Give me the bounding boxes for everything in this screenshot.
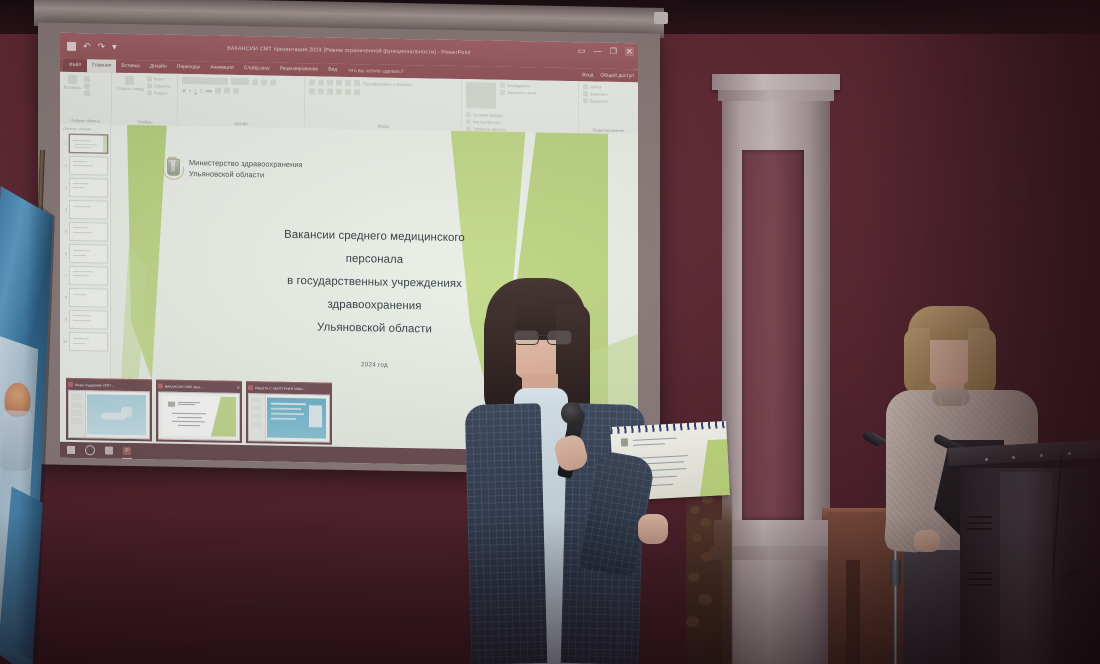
preview-thumbnail[interactable] [158,391,240,441]
booklet-emblem [621,438,628,446]
start-button-icon[interactable] [67,446,75,454]
eyeglasses-icon [514,330,570,343]
new-slide-icon [125,76,134,85]
section-button[interactable]: Раздел [147,90,172,95]
underline-icon[interactable]: Ч [194,88,197,93]
column-inset-panel [742,150,804,520]
cut-icon[interactable] [84,76,90,82]
minimize-icon[interactable]: — [593,46,602,55]
tab-insert[interactable]: Вставка [116,60,145,74]
tab-design[interactable]: Дизайн [145,60,172,73]
align-center-icon[interactable] [318,88,324,94]
thumbnail-image[interactable] [69,200,108,220]
character-spacing-icon[interactable] [215,88,221,94]
shape-fill-icon [466,112,471,117]
slide-thumbnail-2[interactable]: 2 [62,156,108,176]
shape-outline-icon [466,119,471,124]
thumbnail-image[interactable] [69,244,108,264]
new-slide-button[interactable]: Создать слайд [116,76,143,92]
preview-thumbnail[interactable] [68,390,150,440]
thumbnail-image[interactable] [69,178,108,198]
increase-indent-icon[interactable] [336,80,342,86]
quick-styles-icon [500,90,505,95]
decrease-font-size-icon[interactable] [261,79,267,85]
tab-animations[interactable]: Анимация [205,61,238,75]
thumbnail-image[interactable] [69,266,108,286]
tab-file[interactable]: Файл [63,59,87,72]
conference-room-photo: ↶ ↷ ▾ ВАКАНСИИ СМТ презентация 2024 [Реж… [0,0,1100,664]
preview-title: РАБОТА С АБИТУРИЕНТАМИ... [255,386,330,391]
plant-leaf [690,506,700,514]
format-painter-icon[interactable] [84,90,90,96]
slide-thumbnail-10[interactable]: 10 [62,332,108,352]
columns-icon[interactable] [345,89,351,95]
replace-button[interactable]: Заменить [583,91,608,96]
powerpoint-taskbar-icon[interactable]: P [123,447,131,455]
ribbon-group-drawing[interactable]: Упорядочить Экспресс-стили Заливка фигур… [462,79,579,133]
italic-icon[interactable]: К [189,88,191,93]
ribbon-display-options-icon[interactable]: ▭ [577,46,586,55]
smartart-label[interactable]: Преобразовать в SmartArt [363,81,412,87]
preview-thumbnail[interactable] [248,393,330,443]
ribbon-group-paragraph[interactable]: Преобразовать в SmartArt Абзац [305,76,461,131]
hair-left-side [486,304,516,416]
restore-icon[interactable]: ❐ [609,47,618,56]
change-case-icon[interactable] [224,88,230,94]
shape-fill-button[interactable]: Заливка фигуры [466,112,506,118]
slide-thumbnail-3[interactable]: 3 [62,178,108,198]
ministry-line-1: Министерство здравоохранения [189,158,303,169]
ministry-logo-block: Министерство здравоохранения Ульяновской… [163,158,303,182]
arrange-icon [500,83,505,88]
share-button[interactable]: Общий доступ [600,72,634,79]
taskbar-thumbnail-previews[interactable]: Меры поддержки СМП ... [66,378,332,445]
thumbnail-image[interactable] [69,156,108,176]
taskbar-preview-3[interactable]: РАБОТА С АБИТУРИЕНТАМИ... [246,381,332,445]
tab-review[interactable]: Рецензирование [275,63,324,77]
column-capital-molding [718,90,834,101]
tab-slideshow[interactable]: Слайд-шоу [239,62,275,76]
ribbon-group-slides[interactable]: Создать слайд Макет Сбросить Раздел Слай… [112,73,178,126]
find-button[interactable]: Найти [583,84,601,89]
thumbnail-image[interactable] [69,310,108,330]
section-icon [147,90,152,95]
copy-icon[interactable] [84,83,90,89]
close-icon[interactable]: ✕ [625,47,634,56]
thumbnail-image[interactable] [69,222,108,242]
slide-thumbnail-6[interactable]: 6 [62,244,108,264]
shadow-icon[interactable]: S [200,88,203,93]
powerpoint-icon [68,382,73,387]
find-icon [583,84,588,89]
align-right-icon[interactable] [327,89,333,95]
slide-thumbnail-7[interactable]: 7 [62,266,108,286]
ministry-line-2: Ульяновской области [189,169,264,179]
replace-icon [583,91,588,96]
booklet-green-accent [697,439,730,496]
thumbnail-pane-header: Область эскизов [62,127,108,132]
bold-icon[interactable]: Ж [182,87,186,92]
ulyanovsk-coat-of-arms-icon [163,158,182,179]
reset-button[interactable]: Сбросить [147,83,172,88]
font-size-combo[interactable] [231,78,249,85]
tab-transitions[interactable]: Переходы [172,61,205,75]
ribbon-group-font[interactable]: Ж К Ч S abc Шрифт [178,74,305,128]
ribbon-group-clipboard[interactable]: Вставить Буфер обмена [60,72,112,125]
slide-thumbnail-5[interactable]: 5 [62,222,108,242]
bullets-icon[interactable] [309,79,315,85]
reset-icon [147,83,152,88]
font-color-icon[interactable] [233,88,239,94]
thumbnail-image[interactable] [69,134,108,154]
decrease-indent-icon[interactable] [327,80,333,86]
document-title: ВАКАНСИИ СМТ презентация 2024 [Режим огр… [60,43,638,60]
align-text-icon[interactable] [354,89,360,95]
window-controls[interactable]: ▭ — ❐ ✕ [577,46,634,56]
slide-thumbnail-4[interactable]: 4 [62,200,108,220]
preview-close-icon[interactable]: ✕ [237,385,240,390]
select-button[interactable]: Выделить [583,98,608,103]
tab-view[interactable]: Вид [323,64,342,77]
powerpoint-icon [248,385,253,390]
thumbnail-image[interactable] [69,288,108,308]
sign-in-link[interactable]: Вход [582,72,593,78]
align-left-icon[interactable] [309,88,315,94]
paste-icon [68,75,77,84]
text-direction-icon[interactable] [354,80,360,86]
column-capital [712,74,840,90]
tab-home[interactable]: Главная [87,59,116,73]
layout-icon [147,76,152,81]
clear-formatting-icon[interactable] [270,79,276,85]
arrange-button[interactable]: Упорядочить [500,83,536,89]
line-spacing-icon[interactable] [345,80,351,86]
search-icon[interactable] [85,445,95,455]
paste-button[interactable]: Вставить [64,75,81,90]
thumbnail-image[interactable] [69,332,108,352]
slide-thumbnail-9[interactable]: 9 [62,310,108,330]
task-view-icon[interactable] [105,447,113,455]
floor-shadow [0,514,1100,664]
tell-me-box[interactable]: Что вы хотите сделать? [348,67,403,74]
ministry-name: Министерство здравоохранения Ульяновской… [189,158,303,181]
slide-thumbnail-1[interactable]: 1 [62,134,108,154]
taskbar-preview-1[interactable]: Меры поддержки СМП ... [66,378,152,442]
layout-button[interactable]: Макет [147,76,172,81]
projector-screen-roller-end [654,12,668,24]
plant-leaf [702,496,713,504]
account-area[interactable]: Вход Общий доступ [582,68,634,82]
quick-styles-button[interactable]: Экспресс-стили [500,90,536,96]
numbering-icon[interactable] [318,79,324,85]
powerpoint-icon [158,383,163,388]
slide-thumbnail-8[interactable]: 8 [62,288,108,308]
justify-icon[interactable] [336,89,342,95]
preview-title: Меры поддержки СМП ... [75,382,150,387]
preview-title: ВАКАНСИИ СМП през... [165,384,235,389]
select-icon [583,98,588,103]
font-name-combo[interactable] [182,77,228,85]
ribbon-group-editing[interactable]: Найти Заменить Выделить Редактирование [579,81,638,134]
shape-outline-button[interactable]: Контур фигуры [466,119,506,125]
strikethrough-icon[interactable]: abc [206,88,212,93]
taskbar-preview-2[interactable]: ВАКАНСИИ СМП през... ✕ [156,379,242,443]
shapes-gallery[interactable] [466,82,496,109]
increase-font-size-icon[interactable] [252,79,258,85]
